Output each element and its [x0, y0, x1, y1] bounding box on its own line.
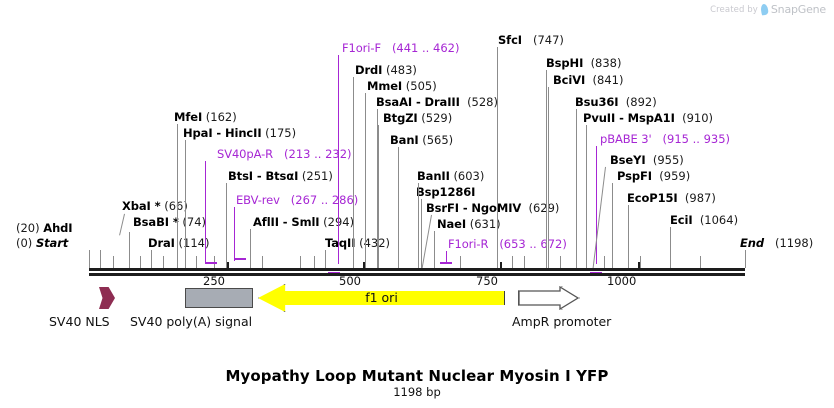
leader-sv40pa-r — [205, 161, 206, 264]
leader-btsi — [226, 183, 227, 268]
leader-bcivi — [548, 87, 549, 268]
site-label-bsp1286i[interactable]: Bsp1286I — [416, 186, 475, 198]
snapgene-drop-icon — [760, 4, 768, 16]
site-label-bsu36i[interactable]: Bsu36I (892) — [575, 96, 657, 108]
leader-tick-aux-10 — [512, 256, 513, 268]
feature-bracket-sv40pa-r — [205, 262, 217, 264]
sequence-axis-line-top — [89, 268, 745, 271]
leader-pspfi — [612, 183, 613, 268]
site-label-btgzi[interactable]: BtgZI (529) — [383, 112, 452, 124]
leader-hpai — [185, 140, 186, 268]
axis-label-1000: 1000 — [607, 274, 636, 288]
leader-ebv-rev — [234, 207, 235, 261]
sequence-axis-line-bottom — [89, 273, 745, 276]
site-label-pbabe-3prime[interactable]: pBABE 3' (915 .. 935) — [600, 133, 730, 145]
feature-label-f1-ori: f1 ori — [258, 291, 505, 305]
axis-label-500: 500 — [339, 274, 361, 288]
site-label-pvuii-mspa1i[interactable]: PvuII - MspA1I (910) — [583, 112, 713, 124]
leader-mfei — [177, 124, 178, 268]
watermark-prefix: Created by — [710, 5, 758, 15]
leader-sfci — [497, 47, 498, 268]
leader-tick-aux-13 — [604, 256, 605, 268]
site-label-sv40pa-r[interactable]: SV40pA-R (213 .. 232) — [217, 148, 352, 160]
leader-ahdi — [100, 250, 101, 268]
site-label-hpai-hincii[interactable]: HpaI - HincII (175) — [183, 127, 296, 139]
axis-tick-750 — [500, 262, 502, 271]
site-label-bani[interactable]: BanI (565) — [390, 134, 453, 146]
leader-naei — [434, 231, 435, 268]
feature-sv40-nls[interactable] — [99, 287, 115, 309]
site-label-drai[interactable]: DraI (114) — [148, 237, 209, 249]
watermark-brand: SnapGene — [771, 3, 826, 16]
site-label-end[interactable]: End (1198) — [740, 237, 813, 249]
leader-xbai — [119, 214, 125, 236]
leader-tick-aux-15 — [700, 256, 701, 268]
leader-tick-aux-1 — [113, 256, 114, 268]
site-label-btsi-btsai[interactable]: BtsI - BtsαI (251) — [228, 170, 333, 182]
plasmid-length: 1198 bp — [0, 385, 834, 399]
leader-bsrfi — [421, 215, 432, 269]
site-label-mfei[interactable]: MfeI (162) — [174, 111, 237, 123]
site-label-bcivi[interactable]: BciVI (841) — [553, 74, 623, 86]
leader-tick-aux-7 — [300, 256, 301, 268]
site-label-sfci[interactable]: SfcI (747) — [498, 34, 564, 46]
site-label-bsphi[interactable]: BspHI (838) — [546, 57, 622, 69]
leader-aflii — [250, 229, 251, 268]
axis-tick-1000 — [638, 262, 640, 271]
leader-bani — [398, 147, 399, 268]
feature-label-ampr-promoter: AmpR promoter — [512, 314, 611, 329]
site-label-taqii[interactable]: TaqII (432) — [325, 237, 390, 249]
axis-tick-500 — [363, 262, 365, 271]
leader-bsp1286i — [421, 199, 422, 268]
site-label-bsabi[interactable]: BsaBI * (74) — [133, 216, 206, 228]
leader-end — [745, 250, 746, 268]
plasmid-title: Myopathy Loop Mutant Nuclear Myosin I YF… — [0, 367, 834, 385]
axis-label-750: 750 — [476, 274, 498, 288]
site-label-start[interactable]: (0) Start — [16, 237, 68, 249]
leader-drdi — [353, 77, 354, 268]
feature-bracket-f1ori-r — [440, 262, 452, 264]
site-label-bseyi[interactable]: BseYI (955) — [610, 154, 684, 166]
leader-tick-aux-3 — [163, 256, 164, 268]
feature-bracket-ebv-rev — [234, 258, 246, 260]
leader-banii — [418, 183, 419, 268]
leader-tick-aux-4 — [196, 256, 197, 268]
site-label-mmei[interactable]: MmeI (505) — [367, 80, 437, 92]
site-label-naei[interactable]: NaeI (631) — [437, 218, 501, 230]
leader-bsphi — [546, 70, 547, 268]
leader-btgzi — [378, 125, 379, 268]
leader-tick-aux-8 — [314, 256, 315, 268]
site-label-drdi[interactable]: DrdI (483) — [355, 64, 417, 76]
site-label-f1ori-f[interactable]: F1ori-F (441 .. 462) — [342, 42, 459, 54]
axis-label-250: 250 — [203, 274, 225, 288]
leader-bsu36i — [576, 109, 577, 268]
axis-tick-250 — [227, 262, 229, 271]
leader-tick-aux-14 — [640, 256, 641, 268]
leader-ecop15i — [628, 205, 629, 268]
leader-bseyi — [593, 167, 606, 268]
feature-label-sv40-polya-signal: SV40 poly(A) signal — [130, 314, 252, 329]
leader-drai — [151, 250, 152, 268]
leader-taqii — [325, 250, 326, 268]
leader-tick-aux-9 — [460, 256, 461, 268]
leader-bsabi — [129, 232, 130, 268]
ampr-promoter-outline-icon — [518, 286, 580, 310]
feature-label-sv40-nls: SV40 NLS — [49, 314, 110, 329]
site-label-ecop15i[interactable]: EcoP15I (987) — [627, 192, 716, 204]
site-label-bsrfi-ngomiv[interactable]: BsrFI - NgoMIV (629) — [426, 202, 559, 214]
leader-tick-aux-11 — [524, 256, 525, 268]
site-label-ebv-rev[interactable]: EBV-rev (267 .. 286) — [236, 194, 358, 206]
site-label-ahdi[interactable]: (20) AhdI — [16, 222, 72, 234]
site-label-ecii[interactable]: EciI (1064) — [670, 214, 738, 226]
leader-f1ori-f — [338, 55, 339, 264]
leader-tick-aux-2 — [140, 256, 141, 268]
leader-pvuii — [586, 125, 587, 268]
leader-ecii — [670, 227, 671, 268]
site-label-bsaai-draiii[interactable]: BsaAI - DraIII (528) — [376, 96, 498, 108]
leader-tick-aux-12 — [560, 256, 561, 268]
leader-mmei — [365, 93, 366, 268]
plasmid-map-canvas: Created by SnapGene (0) Start (20) AhdI … — [0, 0, 834, 408]
leader-tick-aux-6 — [262, 256, 263, 268]
feature-sv40-polya-signal[interactable] — [185, 288, 253, 308]
site-label-banii[interactable]: BanII (603) — [417, 170, 484, 182]
leader-start — [89, 250, 90, 268]
snapgene-watermark: Created by SnapGene — [710, 3, 826, 16]
site-label-pspfi[interactable]: PspFI (959) — [617, 170, 690, 182]
